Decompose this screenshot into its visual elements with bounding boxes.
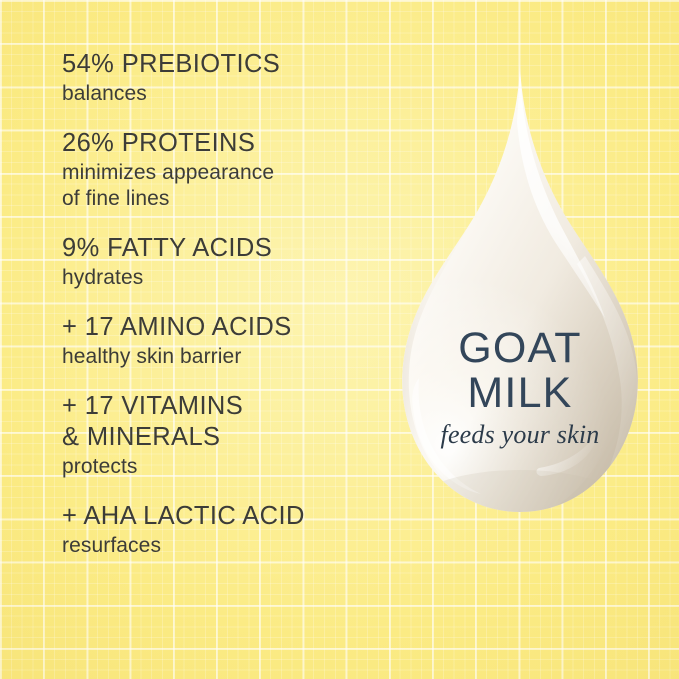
ingredient-item-amino-acids: + 17 AMINO ACIDS healthy skin barrier bbox=[62, 312, 392, 370]
ingredient-benefit: balances bbox=[62, 81, 392, 107]
ingredient-benefit: protects bbox=[62, 454, 392, 480]
ingredient-benefit: hydrates bbox=[62, 265, 392, 291]
ingredient-item-prebiotics: 54% PREBIOTICS balances bbox=[62, 49, 392, 107]
goat-milk-infographic: 54% PREBIOTICS balances 26% PROTEINS min… bbox=[0, 0, 679, 679]
droplet-bottom-shadow bbox=[416, 470, 624, 538]
ingredient-item-aha-lactic-acid: + AHA LACTIC ACID resurfaces bbox=[62, 501, 392, 559]
ingredient-title: + 17 VITAMINS & MINERALS bbox=[62, 391, 392, 453]
droplet-icon bbox=[389, 60, 651, 548]
ingredient-title: 54% PREBIOTICS bbox=[62, 49, 392, 80]
ingredient-benefit: resurfaces bbox=[62, 533, 392, 559]
ingredient-title: + 17 AMINO ACIDS bbox=[62, 312, 392, 343]
ingredient-item-vitamins-minerals: + 17 VITAMINS & MINERALS protects bbox=[62, 391, 392, 480]
ingredient-item-fatty-acids: 9% FATTY ACIDS hydrates bbox=[62, 233, 392, 291]
ingredient-benefit: healthy skin barrier bbox=[62, 344, 392, 370]
ingredient-benefit: minimizes appearance of fine lines bbox=[62, 160, 392, 212]
milk-droplet: GOAT MILK feeds your skin bbox=[389, 60, 651, 548]
ingredient-title: 9% FATTY ACIDS bbox=[62, 233, 392, 264]
ingredient-title: + AHA LACTIC ACID bbox=[62, 501, 392, 532]
ingredient-title: 26% PROTEINS bbox=[62, 128, 392, 159]
ingredient-item-proteins: 26% PROTEINS minimizes appearance of fin… bbox=[62, 128, 392, 212]
ingredient-list: 54% PREBIOTICS balances 26% PROTEINS min… bbox=[62, 49, 392, 559]
